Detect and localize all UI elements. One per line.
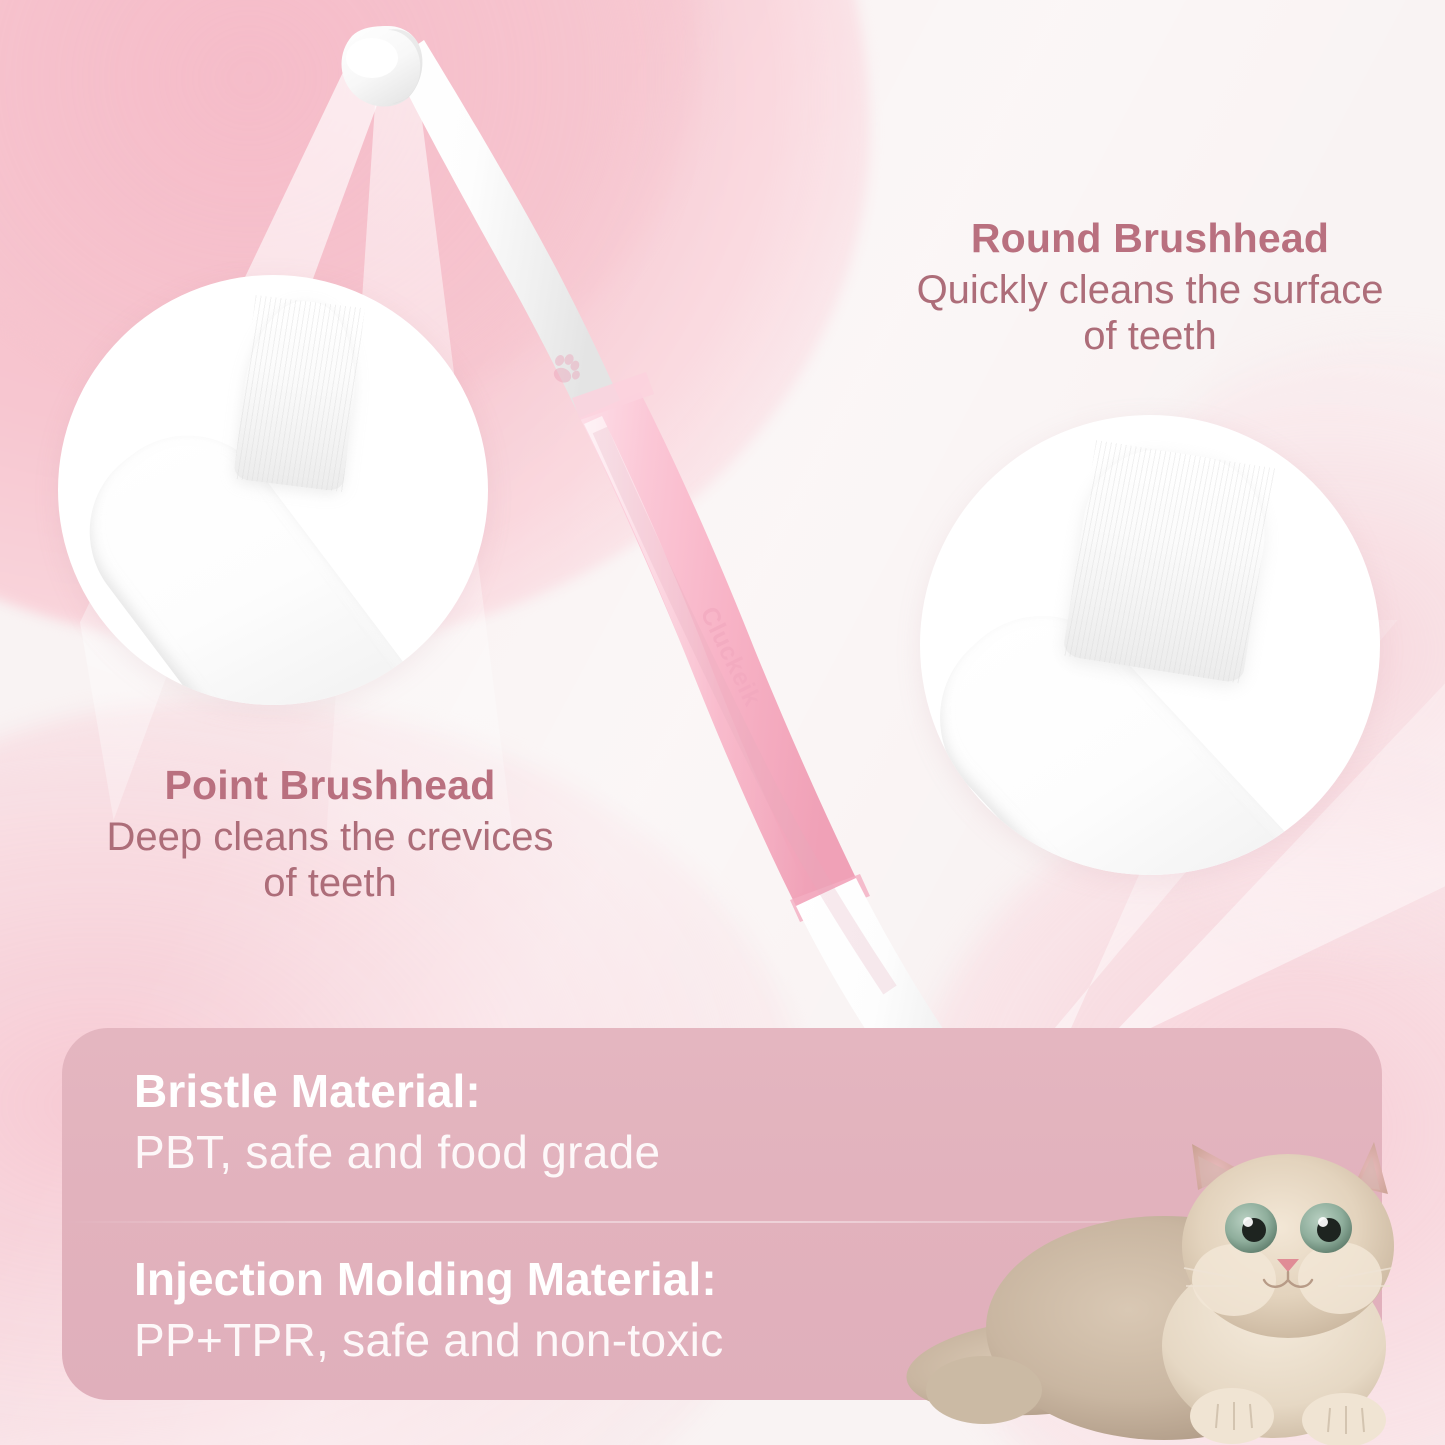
cat-photo (896, 1128, 1445, 1445)
round-brushhead-magnifier (920, 415, 1380, 875)
magnified-point-bristles (233, 295, 365, 492)
material-row-injection-label: Injection Molding Material: (134, 1252, 724, 1307)
cat-eye-glint-left (1243, 1217, 1253, 1227)
material-row-injection: Injection Molding Material: PP+TPR, safe… (134, 1252, 724, 1368)
callout-point-brushhead-title: Point Brushhead (20, 762, 640, 810)
point-brushhead-magnifier-content (58, 275, 488, 705)
cat-illustration (896, 1128, 1445, 1445)
material-row-bristle-label: Bristle Material: (134, 1064, 660, 1119)
cat-paw-right (1302, 1393, 1386, 1445)
callout-round-brushhead-title: Round Brushhead (860, 215, 1440, 263)
callout-point-brushhead-line2: of teeth (20, 860, 640, 907)
cat-eye-glint-right (1318, 1217, 1328, 1227)
material-row-injection-value: PP+TPR, safe and non-toxic (134, 1313, 724, 1368)
material-row-bristle-value: PBT, safe and food grade (134, 1125, 660, 1180)
callout-round-brushhead: Round Brushhead Quickly cleans the surfa… (860, 215, 1440, 360)
callout-point-brushhead-line1: Deep cleans the crevices (20, 814, 640, 861)
product-feature-image: Cluckeik Round Brushhead Quickly cleans … (0, 0, 1445, 1445)
material-row-bristle: Bristle Material: PBT, safe and food gra… (134, 1064, 660, 1180)
cat-rear-paw (926, 1356, 1042, 1424)
point-brushhead-magnifier (58, 275, 488, 705)
magnified-round-bristles (1062, 440, 1276, 684)
cat-paw-left (1190, 1388, 1274, 1444)
round-brushhead-magnifier-content (920, 415, 1380, 875)
callout-point-brushhead: Point Brushhead Deep cleans the crevices… (20, 762, 640, 907)
callout-round-brushhead-line1: Quickly cleans the surface (860, 267, 1440, 314)
toothbrush-point-bristles (346, 38, 398, 78)
callout-round-brushhead-line2: of teeth (860, 313, 1440, 360)
